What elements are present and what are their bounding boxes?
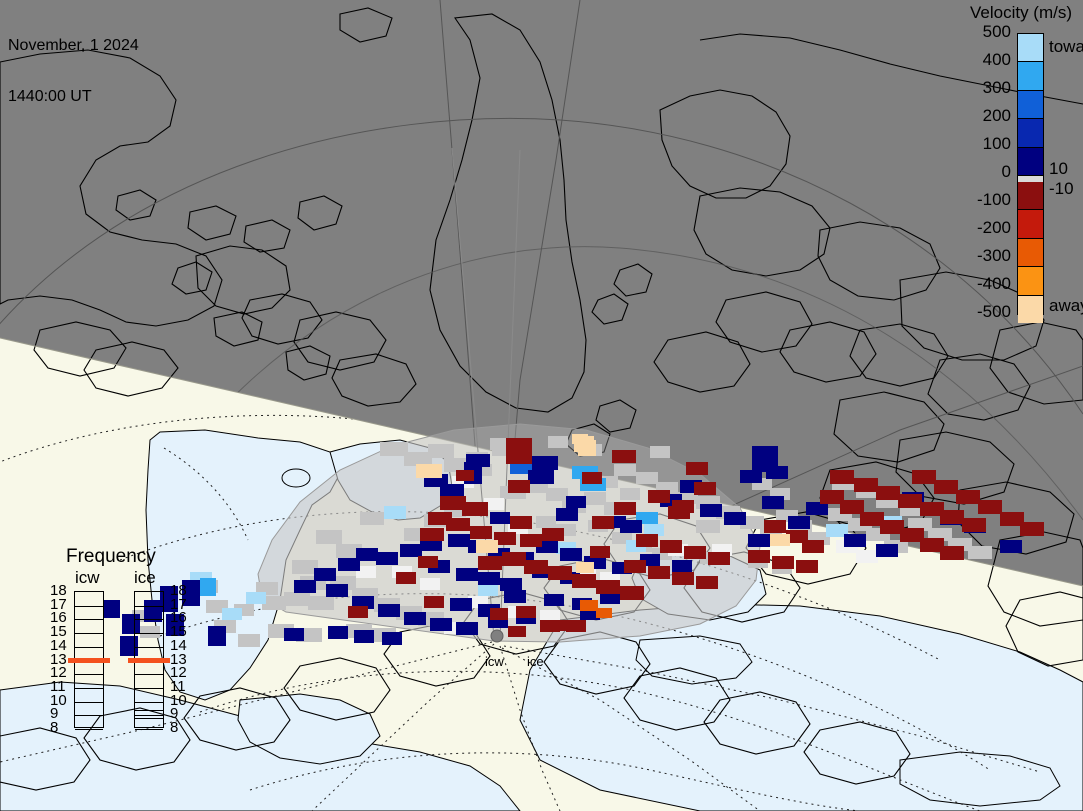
colorbar-band-away-2 [1018,239,1043,267]
colorbar-neg-threshold: -10 [1049,179,1074,199]
frequency-column-ice: ice [134,568,156,588]
frequency-tick-icw-11 [75,688,103,689]
time-label: 1440:00 UT [8,88,139,105]
frequency-tick-ice-14 [135,647,163,648]
frequency-tick-icw-14 [75,647,103,648]
colorbar-tick--100: -100 [977,190,1011,210]
frequency-tick-icw-17 [75,606,103,607]
frequency-tick-icw-12 [75,674,103,675]
frequency-tick-icw-16 [75,619,103,620]
colorbar-tick-100: 100 [983,134,1011,154]
colorbar-band-toward-2 [1018,91,1043,119]
colorbar-band-away-4 [1018,296,1043,323]
frequency-subtick-ice-2 [135,718,163,719]
frequency-column-icw: icw [75,568,100,588]
colorbar-pos-threshold: 10 [1049,159,1068,179]
colorbar-band-toward-4 [1018,148,1043,176]
frequency-tick-ice-9 [135,715,163,716]
velocity-colorbar: Velocity (m/s) 5004003002001000-100-200-… [945,0,1083,340]
colorbar-away-label: away [1049,296,1083,316]
frequency-tick-ice-15 [135,633,163,634]
colorbar-tick--500: -500 [977,302,1011,322]
colorbar-tick-400: 400 [983,50,1011,70]
colorbar-band-away-1 [1018,210,1043,238]
radar-map-screenshot: icw ice November, 1 2024 1440:00 UT Velo… [0,0,1083,811]
colorbar-tick-200: 200 [983,106,1011,126]
colorbar-band-toward-3 [1018,119,1043,147]
frequency-tick-icw-8 [75,729,103,730]
colorbar-band-away-3 [1018,267,1043,295]
origin-label-ice: ice [527,654,544,669]
timestamp-block: November, 1 2024 1440:00 UT [8,2,139,140]
colorbar-tick--300: -300 [977,246,1011,266]
frequency-tick-ice-17 [135,606,163,607]
frequency-legend: Frequency icw ice 18171615141312111098 1… [40,546,240,786]
colorbar-band-toward-1 [1018,62,1043,90]
colorbar-band-toward-0 [1018,34,1043,62]
colorbar-tick--200: -200 [977,218,1011,238]
frequency-label-right-8: 8 [170,719,178,736]
colorbar-toward-label: toward [1049,37,1083,57]
frequency-tick-ice-16 [135,619,163,620]
date-label: November, 1 2024 [8,37,139,54]
frequency-marker-icw [68,658,110,663]
colorbar-gradient [1017,33,1044,315]
colorbar-tick-0: 0 [1002,162,1011,182]
frequency-tick-ice-11 [135,688,163,689]
origin-label-icw: icw [485,654,504,669]
colorbar-ticks: 5004003002001000-100-200-300-400-500 [945,0,1011,340]
frequency-title: Frequency [66,546,156,568]
frequency-tick-icw-10 [75,702,103,703]
frequency-tick-icw-9 [75,715,103,716]
colorbar-tick-500: 500 [983,22,1011,42]
radar-site-marker [491,630,503,642]
colorbar-tick--400: -400 [977,274,1011,294]
colorbar-band-away-0 [1018,182,1043,210]
frequency-subtick-ice-1 [135,710,163,711]
frequency-label-left-8: 8 [50,719,58,736]
frequency-tick-ice-12 [135,674,163,675]
frequency-subtick-ice-0 [135,702,163,703]
frequency-marker-ice [128,658,170,663]
frequency-tick-icw-15 [75,633,103,634]
frequency-tick-ice-8 [135,729,163,730]
colorbar-tick-300: 300 [983,78,1011,98]
